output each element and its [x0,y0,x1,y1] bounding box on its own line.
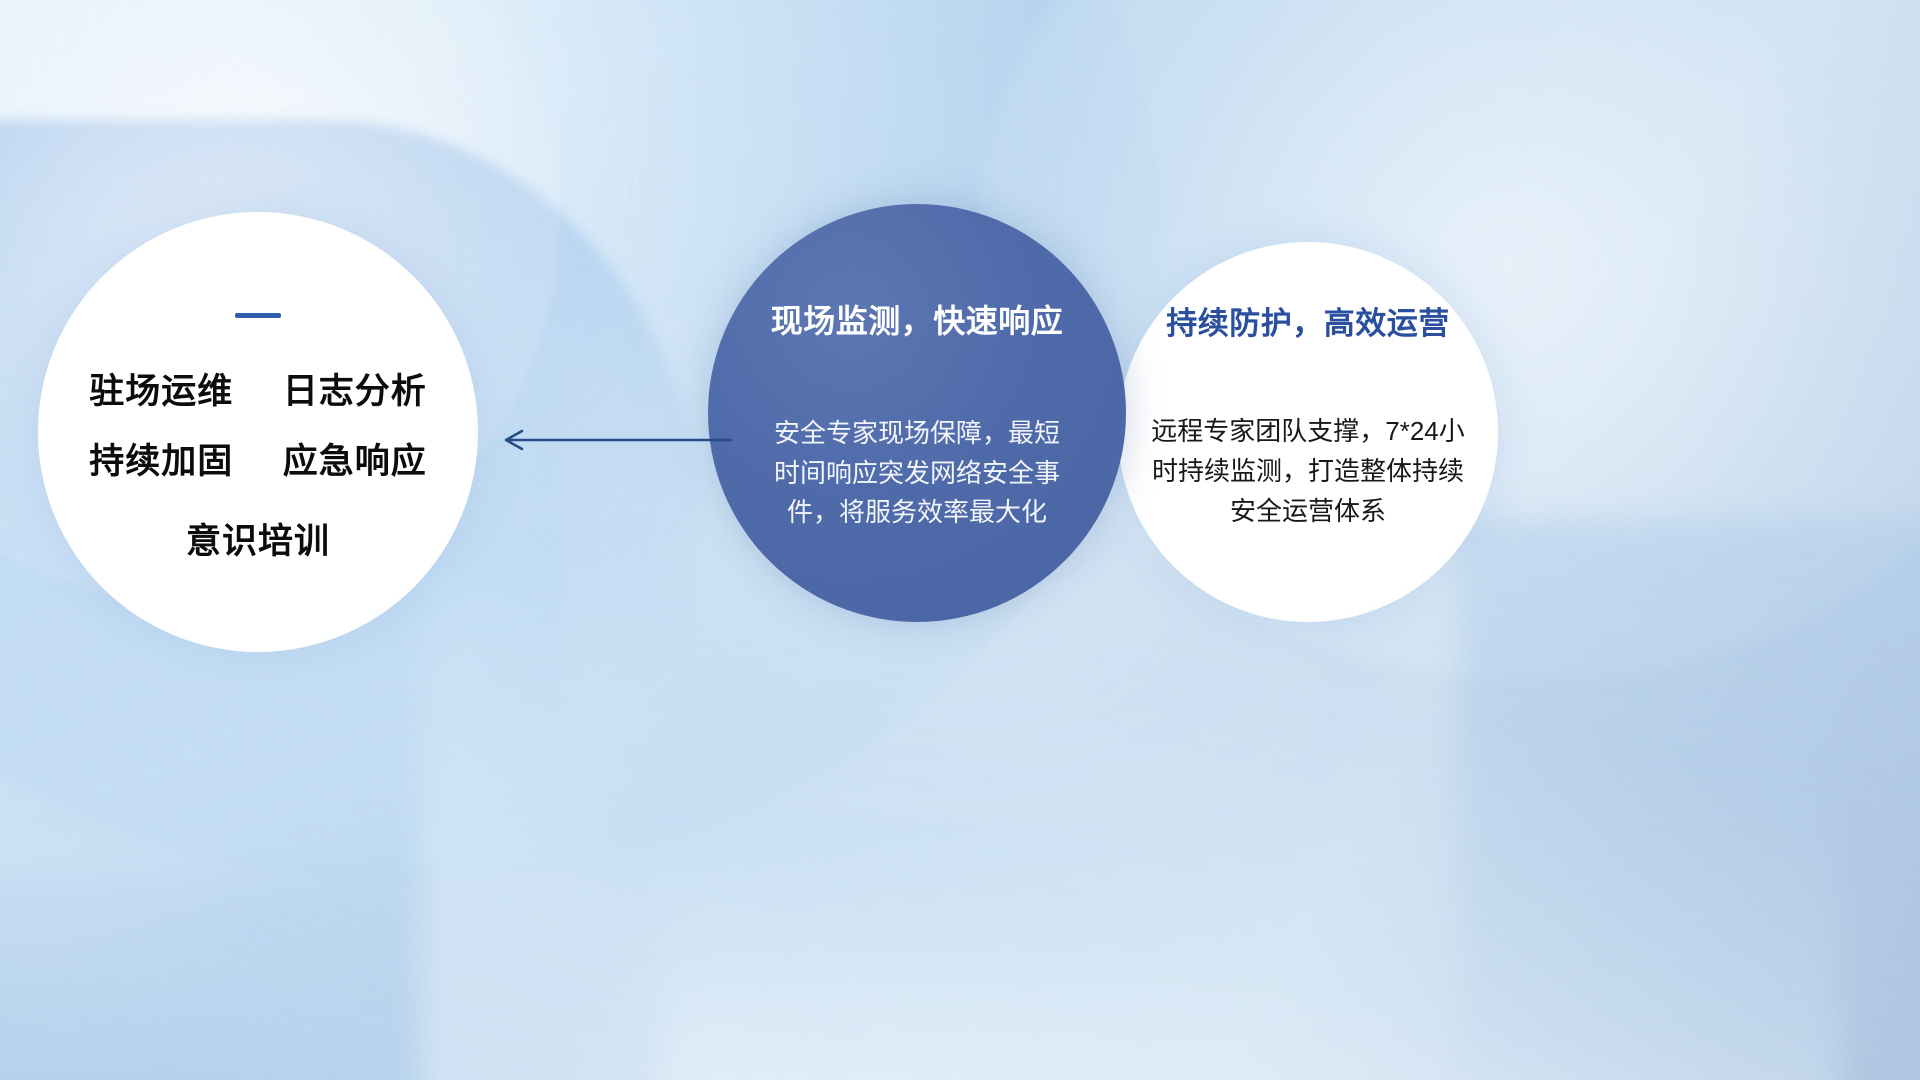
capability-list: 驻场运维 日志分析 持续加固 应急响应 意识培训 [38,313,478,559]
capability-item-emergency-response: 应急响应 [283,442,427,481]
right-circle-body: 远程专家团队支撑，7*24小时持续监测，打造整体持续安全运营体系 [1143,411,1473,531]
background-wash-bottom-left [0,880,660,1080]
capability-row-2: 持续加固 应急响应 [89,444,427,479]
capability-row-1: 驻场运维 日志分析 [89,374,427,409]
slide-canvas: 驻场运维 日志分析 持续加固 应急响应 意识培训 现场监测，快速响应 安全专家现… [0,0,1920,1080]
middle-circle-title: 现场监测，快速响应 [771,296,1064,342]
right-circle-content: 持续防护，高效运营 远程专家团队支撑，7*24小时持续监测，打造整体持续安全运营… [1143,298,1473,531]
capability-circle-right[interactable]: 持续防护，高效运营 远程专家团队支撑，7*24小时持续监测，打造整体持续安全运营… [1118,242,1498,622]
capability-item-awareness-training: 意识培训 [186,522,330,561]
capability-item-log-analysis: 日志分析 [283,372,427,411]
middle-circle-body: 安全专家现场保障，最短时间响应突发网络安全事件，将服务效率最大化 [767,414,1067,533]
capability-circle-left[interactable]: 驻场运维 日志分析 持续加固 应急响应 意识培训 [38,212,478,652]
right-circle-title: 持续防护，高效运营 [1166,298,1450,343]
capability-circle-middle[interactable]: 现场监测，快速响应 安全专家现场保障，最短时间响应突发网络安全事件，将服务效率最… [708,204,1126,622]
middle-circle-content: 现场监测，快速响应 安全专家现场保障，最短时间响应突发网络安全事件，将服务效率最… [752,296,1082,533]
left-arrow-icon [492,424,732,456]
blue-dash-icon [235,313,281,318]
capability-row-3: 意识培训 [186,524,330,559]
capability-item-onsite-ops: 驻场运维 [89,372,233,411]
capability-item-continuous-hardening: 持续加固 [89,442,233,481]
background-wash-right-edge [1460,520,1920,1080]
